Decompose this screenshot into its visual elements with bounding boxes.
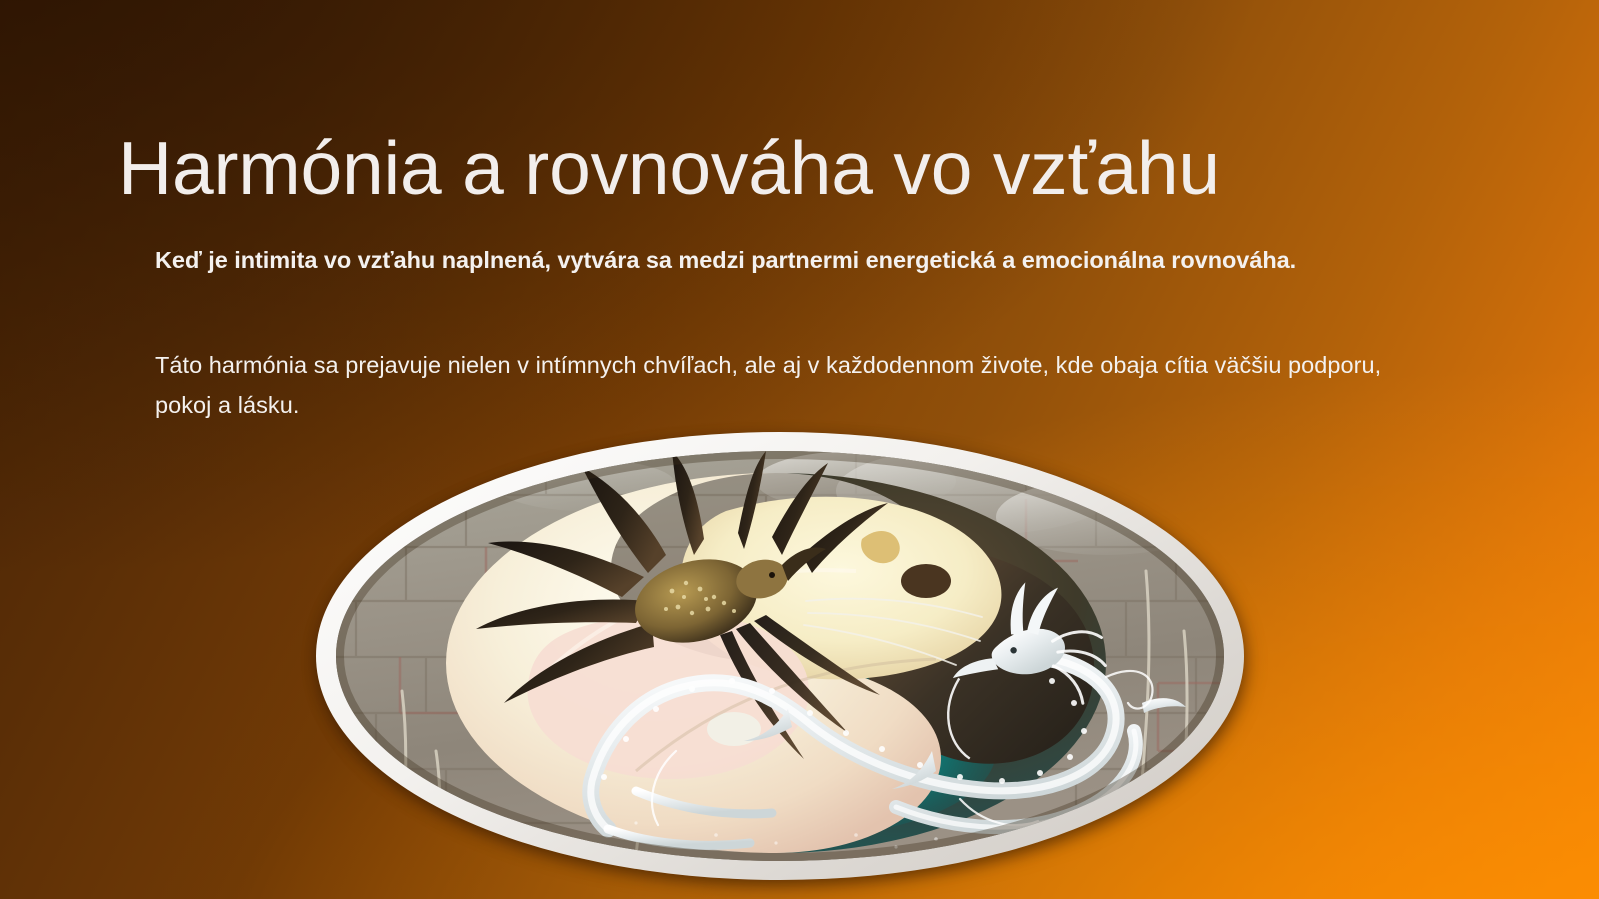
oval-white-frame bbox=[316, 432, 1244, 880]
slide: Harmónia a rovnováha vo vzťahu Keď je in… bbox=[0, 0, 1599, 899]
yin-yang-dragon-phoenix-image bbox=[336, 451, 1224, 861]
paragraph-regular: Táto harmónia sa prejavuje nielen v intí… bbox=[155, 345, 1420, 425]
page-title: Harmónia a rovnováha vo vzťahu bbox=[118, 129, 1220, 208]
oval-image-container[interactable] bbox=[316, 432, 1248, 884]
body-text-block: Keď je intimita vo vzťahu naplnená, vytv… bbox=[155, 240, 1420, 425]
paragraph-bold: Keď je intimita vo vzťahu naplnená, vytv… bbox=[155, 240, 1420, 280]
